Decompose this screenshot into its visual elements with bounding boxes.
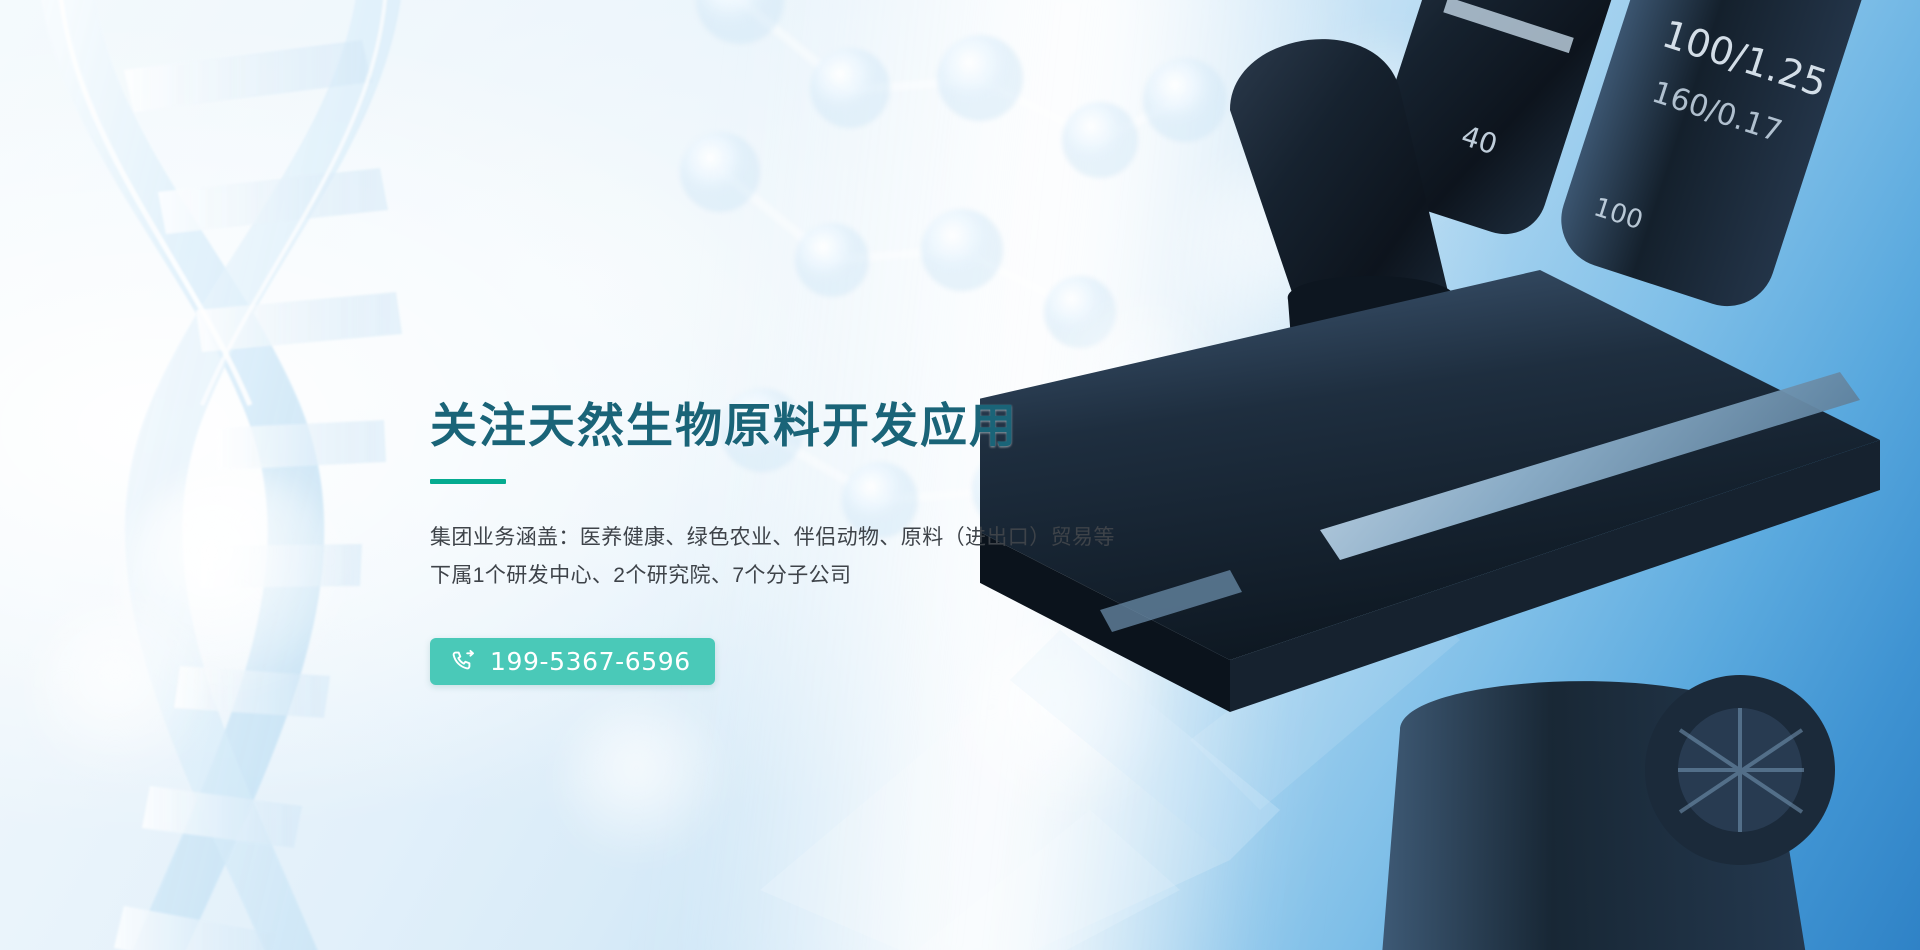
hero-content: 关注天然生物原料开发应用 集团业务涵盖：医养健康、绿色农业、伴侣动物、原料（进出…: [430, 398, 1190, 685]
title-divider: [430, 479, 506, 484]
page-title: 关注天然生物原料开发应用: [430, 398, 1190, 453]
description-line-1: 集团业务涵盖：医养健康、绿色农业、伴侣动物、原料（进出口）贸易等: [430, 519, 1190, 556]
phone-number-label: 199-5367-6596: [490, 649, 691, 674]
phone-forward-icon: [451, 649, 477, 675]
hero-banner: 100/1.25 160/0.17 40 100: [0, 0, 1920, 950]
hero-description: 集团业务涵盖：医养健康、绿色农业、伴侣动物、原料（进出口）贸易等 下属1个研发中…: [430, 519, 1190, 594]
description-line-2: 下属1个研发中心、2个研究院、7个分子公司: [430, 557, 1190, 594]
phone-call-button[interactable]: 199-5367-6596: [430, 638, 715, 685]
